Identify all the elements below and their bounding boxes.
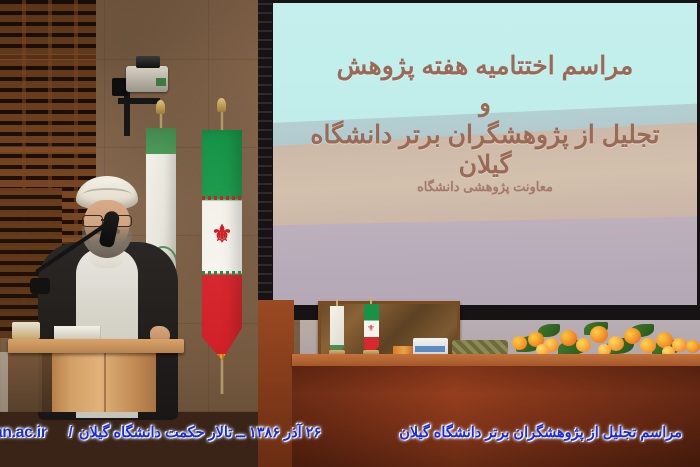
flag-kufic-band-bottom: [202, 271, 242, 275]
podium-body: [52, 353, 156, 412]
flower-bloom: [640, 338, 656, 353]
screen-frame-perforation: [258, 0, 272, 320]
photo-canvas: مراسم اختتامیه هفته پژوهش و تجلیل از پژو…: [0, 0, 700, 467]
desk-iran-flag-emblem-icon: ⚜: [367, 324, 376, 333]
document-stack: [54, 326, 100, 339]
flower-bloom: [624, 328, 641, 344]
slide-title-line-2: تجلیل از پژوهشگران برتر دانشگاه گیلان: [281, 120, 689, 180]
desk-university-flag: [330, 306, 344, 354]
slide-text-block: مراسم اختتامیه هفته پژوهش و تجلیل از پژو…: [273, 3, 697, 305]
camera-lens-icon: [136, 56, 160, 68]
wooden-podium: [8, 339, 184, 412]
slide-title-line-1: مراسم اختتامیه هفته پژوهش: [281, 51, 689, 81]
slide-conjunction: و: [281, 89, 689, 118]
iran-flag-finial: [217, 98, 226, 112]
camera-mount-bracket: [118, 98, 160, 104]
iran-flag-emblem-icon: ⚜: [211, 222, 233, 248]
flower-bloom: [560, 330, 577, 346]
flower-bloom: [576, 338, 591, 352]
slide-subtitle: معاونت پژوهشی دانشگاه: [281, 179, 689, 195]
flower-bloom: [590, 326, 608, 343]
university-flag-finial: [156, 100, 165, 114]
desk-iran-flag: ⚜: [364, 304, 379, 354]
table-surface: [292, 354, 700, 366]
flower-arrangement: [510, 314, 700, 356]
caption-bar: مراسم تجلیل از پژوهشگران برتر دانشگاه گی…: [0, 416, 700, 450]
flower-bloom: [686, 340, 700, 353]
flower-bloom: [512, 336, 527, 350]
white-box: [413, 338, 448, 355]
projection-screen: مراسم اختتامیه هفته پژوهش و تجلیل از پژو…: [273, 3, 697, 305]
caption-title: مراسم تجلیل از پژوهشگران برتر دانشگاه گی…: [399, 425, 682, 441]
caption-date-venue: ۲۶ آذر ۱۳۸۶ ــ تالار حکمت دانشگاه گیلان: [79, 425, 321, 441]
podium-desktop: [8, 339, 184, 353]
iran-national-flag: ⚜: [202, 130, 242, 360]
podium-side: [8, 353, 54, 412]
tissue-box: [12, 322, 40, 339]
microphone-base: [30, 278, 50, 294]
folded-cloth: [452, 340, 508, 355]
university-flag-green-band: [146, 128, 176, 154]
caption-separator: /: [69, 425, 73, 441]
camera-indicator: [156, 78, 166, 86]
projection-screen-frame: مراسم اختتامیه هفته پژوهش و تجلیل از پژو…: [258, 0, 700, 320]
caption-url[interactable]: www.guilan.ac.ir: [0, 424, 47, 442]
flag-kufic-band-top: [202, 196, 242, 200]
